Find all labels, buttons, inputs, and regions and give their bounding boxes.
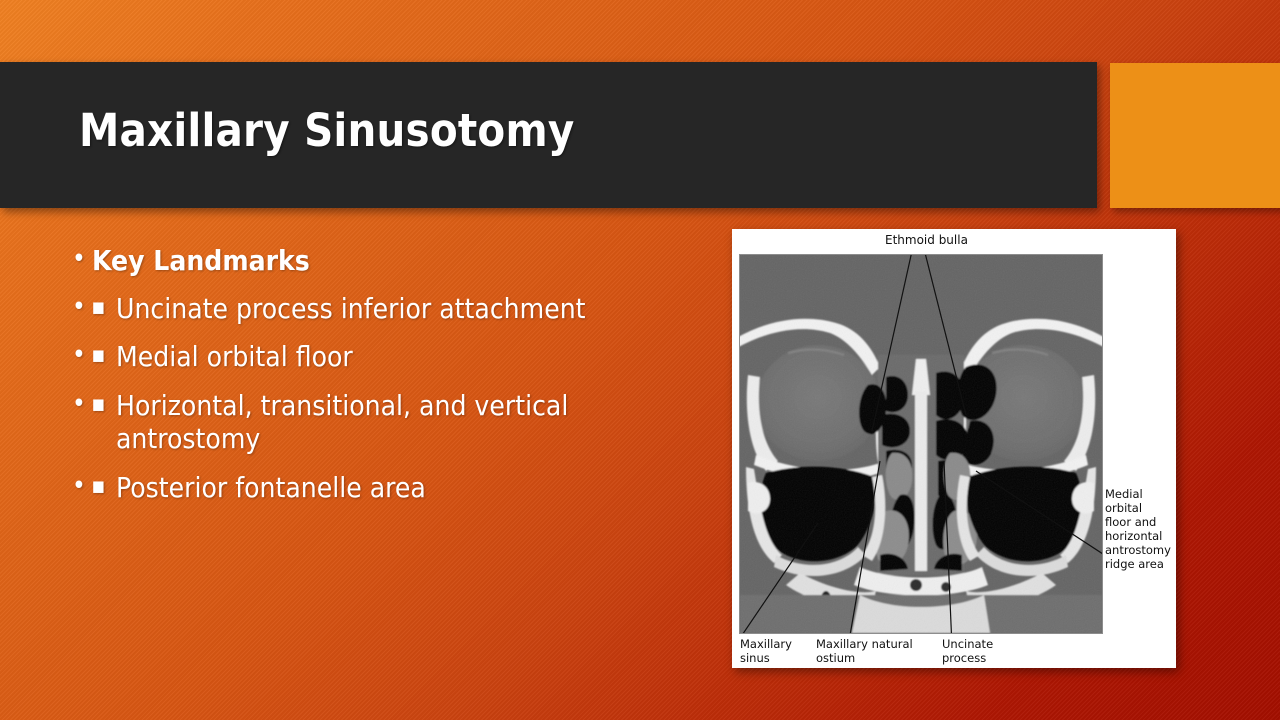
list-item-label: Posterior fontanelle area <box>116 471 692 505</box>
bullet-dot-icon: • <box>72 244 92 275</box>
bullet-dot-icon: • <box>72 471 92 502</box>
bullet-square-icon: ■ <box>92 389 116 419</box>
page-title: Maxillary Sinusotomy <box>79 104 574 157</box>
list-item: • ■ Posterior fontanelle area <box>72 471 692 505</box>
label-medial-orbital-floor: Medial orbital floor and horizontal antr… <box>1105 487 1173 571</box>
bullet-dot-icon: • <box>72 340 92 371</box>
list-item-label: Key Landmarks <box>92 244 692 278</box>
ct-image <box>740 255 1102 633</box>
label-ethmoid-bulla: Ethmoid bulla <box>885 233 968 248</box>
bullet-list: • Key Landmarks • ■ Uncinate process inf… <box>72 244 692 520</box>
bullet-dot-icon: • <box>72 292 92 323</box>
list-item: • ■ Horizontal, transitional, and vertic… <box>72 389 692 456</box>
bullet-dot-icon: • <box>72 389 92 420</box>
list-item-label: Uncinate process inferior attachment <box>116 292 692 326</box>
bullet-square-icon: ■ <box>92 471 116 501</box>
list-item: • ■ Medial orbital floor <box>72 340 692 374</box>
list-item: • Key Landmarks <box>72 244 692 278</box>
slide-canvas: Maxillary Sinusotomy • Key Landmarks • ■… <box>0 0 1280 720</box>
title-bar: Maxillary Sinusotomy <box>0 62 1097 208</box>
ct-scan-graphic <box>740 255 1102 633</box>
ct-figure: Ethmoid bulla Medial orbital floor and h… <box>732 229 1176 668</box>
list-item: • ■ Uncinate process inferior attachment <box>72 292 692 326</box>
list-item-label: Medial orbital floor <box>116 340 692 374</box>
bullet-square-icon: ■ <box>92 292 116 322</box>
label-uncinate-process: Uncinate process <box>942 637 993 665</box>
label-maxillary-sinus: Maxillary sinus <box>740 637 792 665</box>
label-maxillary-natural-ostium: Maxillary natural ostium <box>816 637 913 665</box>
list-item-label: Horizontal, transitional, and vertical a… <box>116 389 692 456</box>
title-accent-block <box>1110 63 1280 208</box>
bullet-square-icon: ■ <box>92 340 116 370</box>
